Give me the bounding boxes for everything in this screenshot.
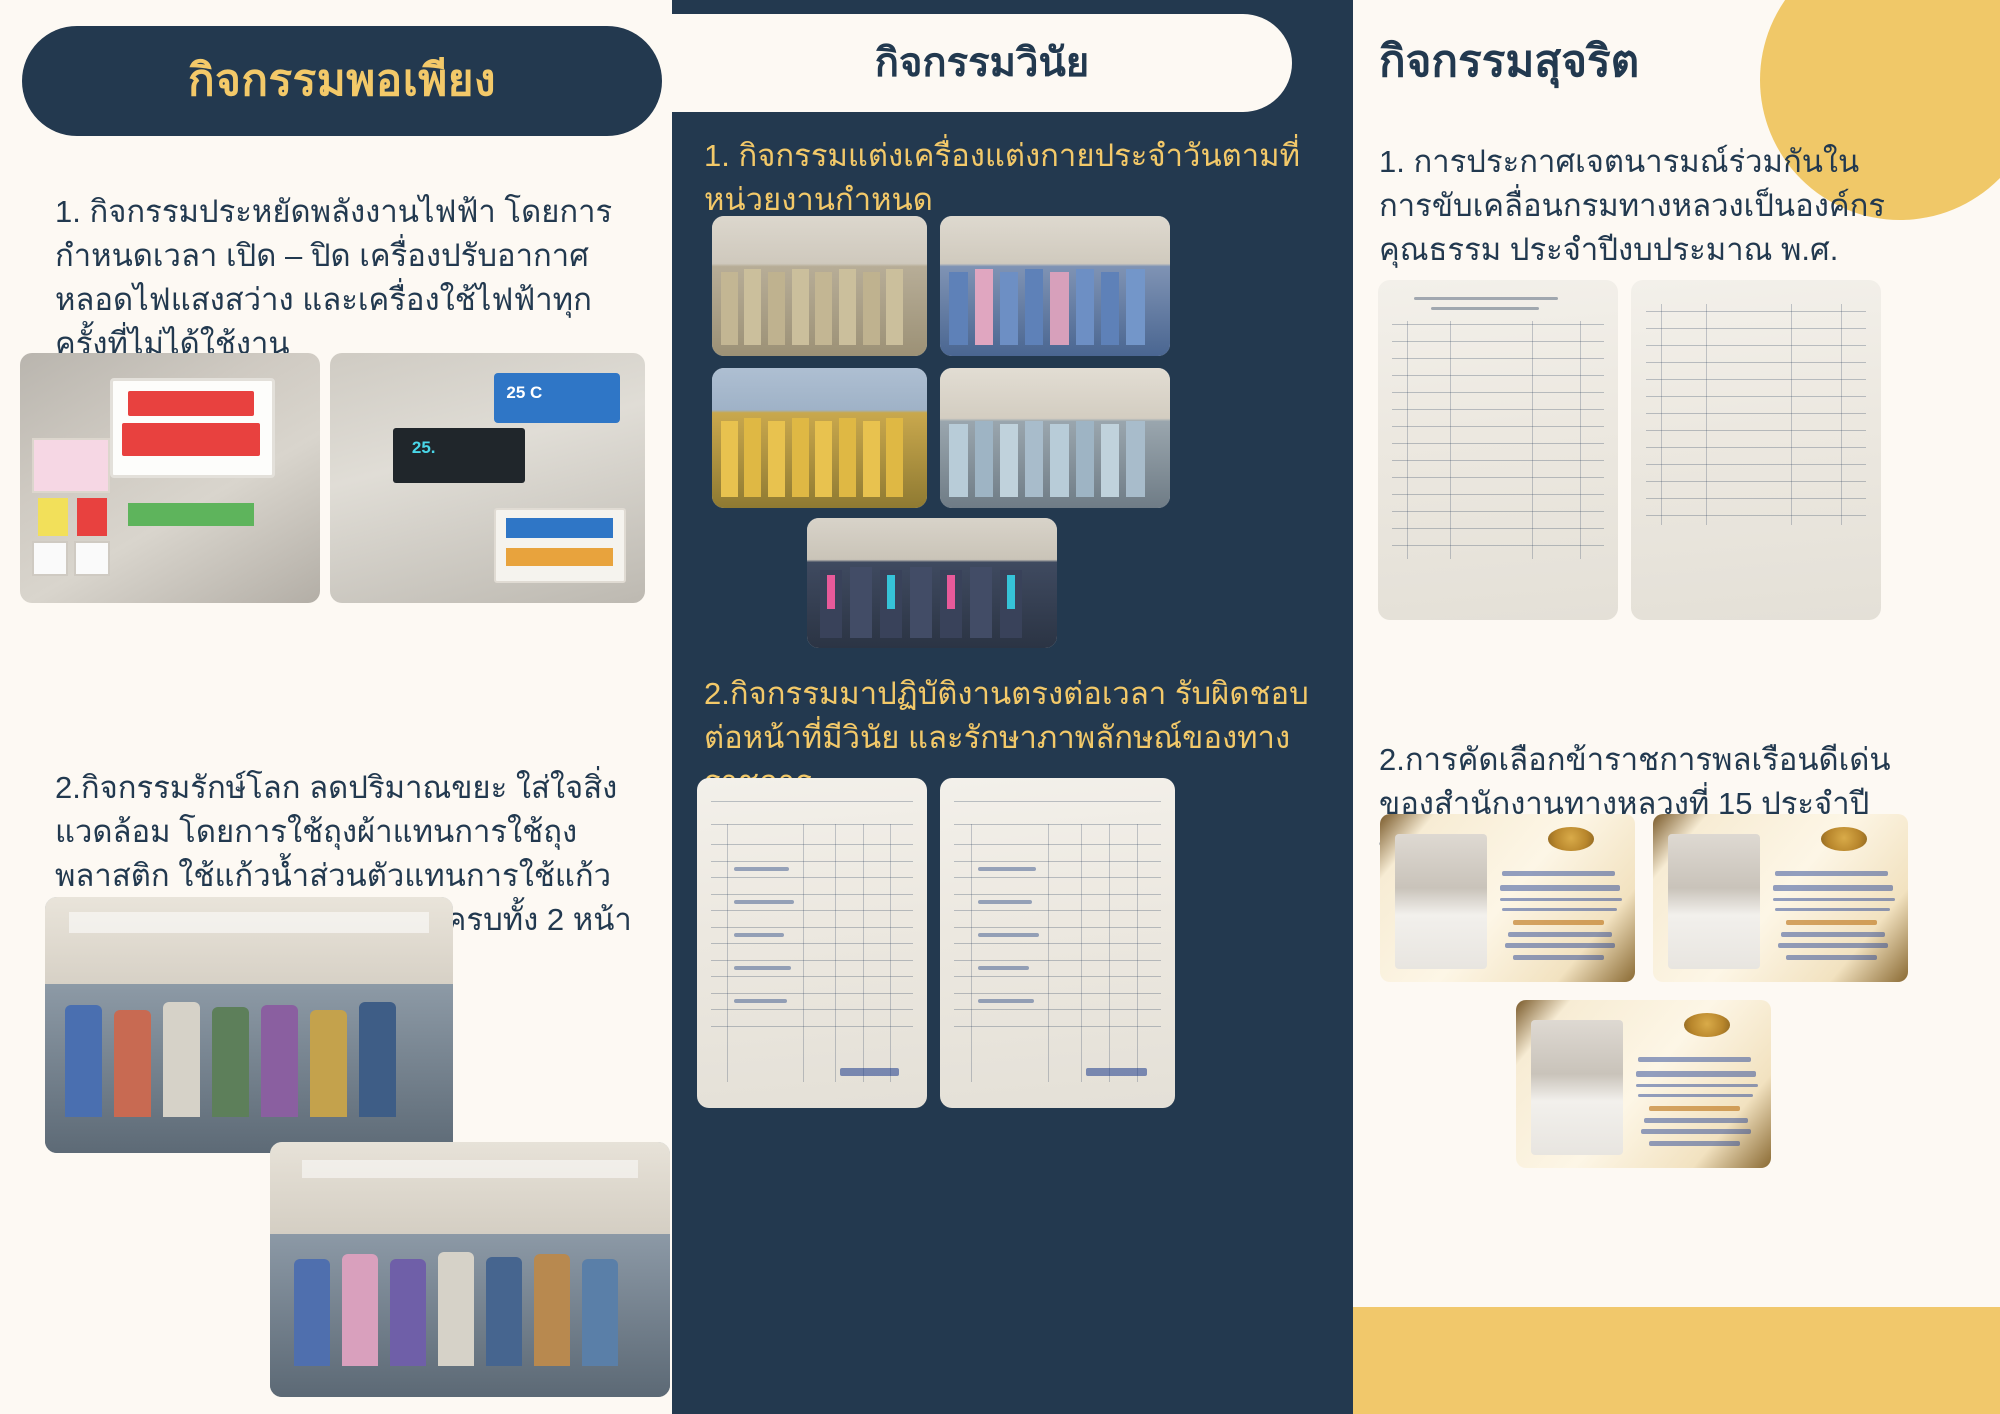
cert-1-year-line [1513,955,1605,960]
uniform-group-photo-navy: เจ้าหน้าที่แต่งกายเสื้อสีกรมท่าถ่ายภาพหม… [807,518,1057,648]
photo-surface [807,518,1057,648]
cert-2-year-line [1786,955,1878,960]
attendance-signin-sheet-photo-left: บัญชีลงเวลาการปฏิบัติราชการของข้าราชการ [697,778,927,1108]
middle-item-1-text: 1. กิจกรรมแต่งเครื่องแต่งกายประจำวันตามท… [704,134,1304,222]
attendance-signin-sheet-photo-right: บัญชีลงเวลาการปฏิบัติราชการของข้าราชการ [940,778,1175,1108]
royal-emblem-icon-3 [1684,1013,1730,1037]
cert-3-award-of-line [1641,1129,1751,1134]
uniform-group-photo-polo: เจ้าหน้าที่แต่งกายเสื้อโปโลถ่ายภาพหมู่หน… [940,368,1170,508]
declaration-signature-sheet-photo-right: ตารางรายชื่อ ชื่อ-สกุล ตำแหน่งและลายมือช… [1631,280,1881,620]
cert-3-award-lead-line [1649,1106,1741,1111]
middle-item-1-text-block: 1. กิจกรรมแต่งเครื่องแต่งกายประจำวันตามท… [704,134,1304,222]
cert-1-award-lead-line [1513,920,1605,925]
cert-3-person-line [1636,1071,1756,1077]
column-right: กิจกรรมสุจริต 1. การประกาศเจตนารมณ์ร่วมก… [1353,0,2000,1414]
photo-surface: 25 C 25. [330,353,645,603]
cert-3-year-line [1649,1141,1741,1146]
cert-3-congrats-line [1638,1057,1750,1062]
right-header-title: กิจกรรมสุจริต [1379,40,1639,84]
column-left: กิจกรรมพอเพียง 1. กิจกรรมประหยัดพลังงานไ… [0,0,680,1414]
left-header-title: กิจกรรมพอเพียง [188,59,496,103]
cert-3-person: นายคณาวุฒิ จองวัฒน์ [1516,1000,1517,1001]
cert-1-award-of-line [1505,943,1615,948]
middle-header-pill: กิจกรรมวินัย [672,14,1292,112]
photo-surface [712,216,927,356]
cert-1-award-line [1508,932,1613,937]
cert-3-position: หัวหน้างานวางแผน สำนักงานทางหลวงที่ 15 [1516,1000,1517,1001]
cert-3-office: สำนักงานทางหลวงที่ 15 (ประจวบคีรีขันธ์) [1516,1000,1517,1001]
uniform-group-photo-yellow: เจ้าหน้าที่แต่งกายเสื้อเหลืองถ่ายภาพหมู่ [712,368,927,508]
staff-group-with-cloth-bags-photo: กลุ่มเจ้าหน้าที่ถือถุงผ้าหน้าสำนักงานทาง… [45,897,453,1153]
cert-2-award-line [1781,932,1886,937]
document-texture [940,778,1175,1108]
staff-group-outside-office-photo: กลุ่มเจ้าหน้าที่ถ่ายภาพรวมหน้าอาคารสำนัก… [270,1142,670,1397]
photo-surface [270,1142,670,1397]
air-conditioner-thermostat-photo: 25 C 25. จอแสดงอุณหภูมิเครื่องปรับอากาศ … [330,353,645,603]
photo-surface [712,368,927,508]
cert-3-congrats: ขอแสดงความยินดีกับ [1516,1000,1517,1001]
cert-2-person-line [1773,885,1893,891]
cert-3-year: ประจำปีพุทธศักราช 2567 [1516,1000,1517,1001]
cert-3-award-lead: ได้รับคัดเลือกเป็น [1516,1000,1517,1001]
cert-3-office-line [1638,1094,1753,1097]
cert-2-congrats-line [1775,871,1887,876]
cert-3-award-of: ของสำนักงานทางหลวงที่15 [1516,1000,1517,1001]
royal-emblem-icon-1 [1548,827,1594,851]
left-item-1-text-block: 1. กิจกรรมประหยัดพลังงานไฟฟ้า โดยการกำหน… [55,190,635,366]
cert-1-congrats-line [1502,871,1614,876]
column-middle: กิจกรรมวินัย 1. กิจกรรมแต่งเครื่องแต่งกา… [672,0,1362,1414]
certificate-card-3: ขอแสดงความยินดีกับ นายคณาวุฒิ จองวัฒน์ ห… [1516,1000,1771,1168]
officer-portrait-3 [1531,1020,1623,1154]
certificate-card-2: ขอแสดงความยินดีกับ นายณัฐวุฒิ ศรีเมือง ผ… [1653,814,1908,982]
officer-portrait-1 [1395,834,1487,968]
photo-surface [940,216,1170,356]
light-switch-sign-photo: ป้ายเที่ยงแล้วต้องรีบไปพัก เป็นคนน่ารักช… [20,353,320,603]
uniform-group-photo-blue: เจ้าหน้าที่แต่งกายชุดสีฟ้าถ่ายภาพหมู่หน้… [940,216,1170,356]
cert-2-award-lead-line [1786,920,1878,925]
document-texture [697,778,927,1108]
photo-surface [20,353,320,603]
declaration-signature-sheet-photo-left: รายชื่อผู้เข้าร่วมลงนามประกาศเจตนารมณ์ร่… [1378,280,1618,620]
bottom-accent-band [1353,1307,2000,1414]
cert-1-position-line [1500,898,1622,901]
officer-portrait-2 [1668,834,1760,968]
certificate-card-1: ขอแสดงความยินดีกับ นายนรงฤทธิ์ พรหมประดิ… [1380,814,1635,982]
cert-1-person-line [1500,885,1620,891]
cert-3-award-line [1644,1118,1749,1123]
poster-canvas: กิจกรรมพอเพียง 1. กิจกรรมประหยัดพลังงานไ… [0,0,2000,1414]
middle-header-title: กิจกรรมวินัย [875,43,1089,83]
cert-2-position-line [1773,898,1895,901]
document-texture [1378,280,1618,620]
left-header-pill: กิจกรรมพอเพียง [22,26,662,136]
photo-surface [45,897,453,1153]
document-texture [1631,280,1881,620]
cert-1-office-line [1502,908,1617,911]
royal-emblem-icon-2 [1821,827,1867,851]
left-item-1-text: 1. กิจกรรมประหยัดพลังงานไฟฟ้า โดยการกำหน… [55,190,635,366]
cert-2-office-line [1775,908,1890,911]
uniform-group-photo-khaki: เจ้าหน้าที่แต่งกายชุดสีกากีถ่ายภาพหมู่หน… [712,216,927,356]
photo-surface [940,368,1170,508]
cert-2-award-of-line [1778,943,1888,948]
cert-3-position-line [1636,1084,1758,1087]
cert-3-award: ข้าราชการพลเรือนดีเด่น [1516,1000,1517,1001]
